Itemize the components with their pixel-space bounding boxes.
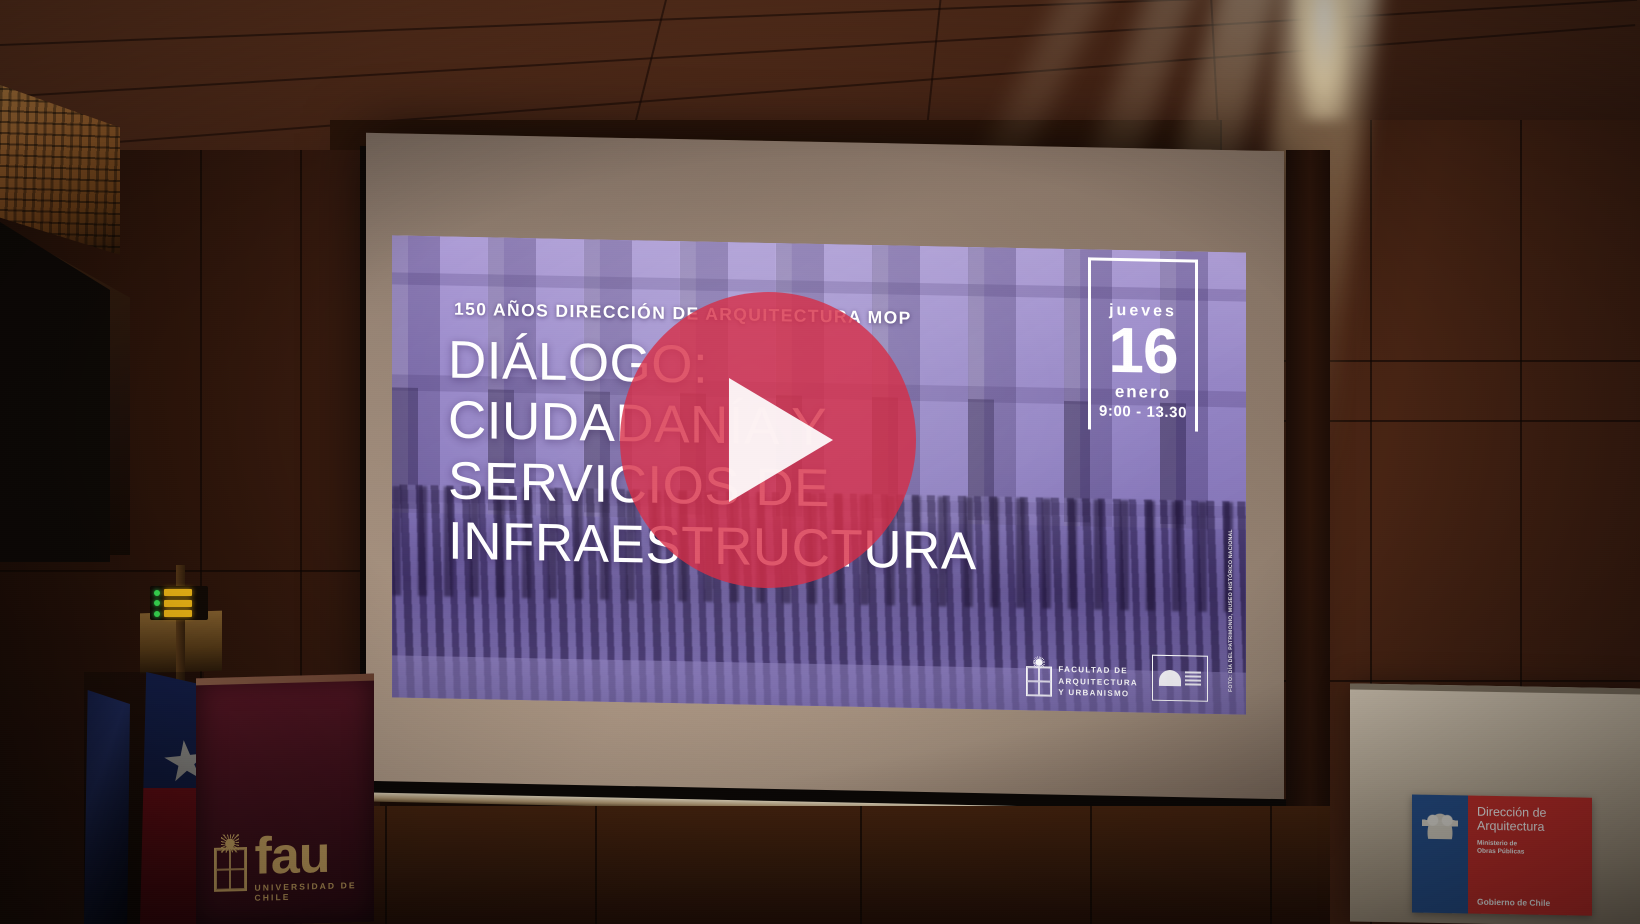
- monumento-nacional-logo-icon: [1152, 655, 1208, 702]
- mop-title-line-2: Arquitectura: [1477, 819, 1592, 835]
- logo-text-lines: [1185, 671, 1201, 685]
- date-time-range: 9:00 - 13.30: [1091, 402, 1195, 421]
- mixer-channel: [154, 600, 204, 607]
- play-button[interactable]: [620, 292, 916, 588]
- fau-subtitle: UNIVERSIDAD DE CHILE: [255, 880, 375, 903]
- video-frame-scene: 150 AÑOS DIRECCIÓN DE ARQUITECTURA MOP D…: [0, 0, 1640, 924]
- flag-chile: [140, 672, 202, 924]
- mop-banner: Dirección de Arquitectura Ministerio de …: [1350, 683, 1640, 924]
- sun-icon: [1033, 656, 1045, 668]
- fau-banner: fau UNIVERSIDAD DE CHILE: [196, 674, 374, 924]
- fau-wordmark: fau: [255, 831, 375, 878]
- light-source: [1298, 0, 1350, 120]
- mop-footer: Gobierno de Chile: [1477, 897, 1550, 908]
- universidad-de-chile-crest-icon: [1026, 666, 1052, 697]
- mop-subtitle-line-2: Obras Públicas: [1477, 848, 1592, 858]
- fau-lockup: fau UNIVERSIDAD DE CHILE: [214, 831, 374, 903]
- date-day-number: 16: [1091, 320, 1195, 381]
- stage-front-panels: [330, 806, 1330, 924]
- fau-logo: FACULTAD DE ARQUITECTURA Y URBANISMO: [1026, 663, 1138, 700]
- logo-blue-block: [1412, 795, 1468, 914]
- status-led-icon: [154, 590, 160, 596]
- universidad-de-chile-crest-icon: [214, 847, 247, 892]
- level-bar: [164, 610, 192, 617]
- level-bar: [164, 589, 192, 596]
- fau-line-3: Y URBANISMO: [1058, 687, 1138, 700]
- mixer-channel: [154, 610, 204, 617]
- sun-icon: [221, 834, 239, 852]
- play-triangle-icon: [729, 378, 833, 502]
- chile-coat-of-arms-icon: [1422, 805, 1458, 840]
- level-bar: [164, 600, 192, 607]
- fau-logo-text: FACULTAD DE ARQUITECTURA Y URBANISMO: [1058, 664, 1138, 700]
- audio-mixer[interactable]: [150, 586, 208, 620]
- mixer-channel: [154, 589, 204, 596]
- event-date-card: jueves 16 enero 9:00 - 13.30: [1088, 257, 1198, 431]
- status-led-icon: [154, 600, 160, 606]
- slide-logo-row: FACULTAD DE ARQUITECTURA Y URBANISMO: [1026, 652, 1208, 702]
- photo-credit: FOTO: DÍA DEL PATRIMONIO, MUSEO HISTÓRIC…: [1228, 529, 1236, 692]
- date-month: enero: [1091, 381, 1195, 403]
- gobierno-de-chile-logo: Dirección de Arquitectura Ministerio de …: [1412, 795, 1592, 916]
- fau-wordmark-block: fau UNIVERSIDAD DE CHILE: [255, 831, 375, 902]
- flag-blue: [84, 690, 130, 924]
- dome-icon: [1159, 670, 1181, 686]
- logo-red-block: Dirección de Arquitectura Ministerio de …: [1468, 796, 1592, 916]
- status-led-icon: [154, 611, 160, 617]
